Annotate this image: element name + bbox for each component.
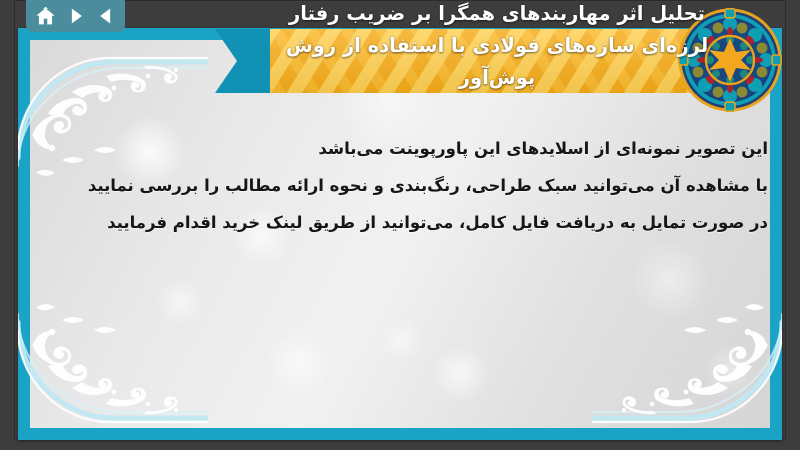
body-line-2: با مشاهده آن می‌توانید سبک طراحی، رنگ‌بن… (68, 167, 768, 204)
islamic-medallion-ornament (678, 8, 782, 112)
presentation-slide: تحلیل اثر مهاربندهای همگرا بر ضریب رفتار… (0, 0, 800, 450)
slide-navigation-bar[interactable] (26, 0, 125, 32)
home-icon[interactable] (32, 3, 58, 29)
slide-body-text: این تصویر نمونه‌ای از اسلایدهای این پاور… (68, 130, 768, 241)
forward-icon[interactable] (63, 3, 89, 29)
body-line-1: این تصویر نمونه‌ای از اسلایدهای این پاور… (68, 130, 768, 167)
banner-arrow-tail (215, 29, 273, 93)
body-line-3: در صورت تمایل به دریافت فایل کامل، می‌تو… (68, 204, 768, 241)
back-icon[interactable] (93, 3, 119, 29)
